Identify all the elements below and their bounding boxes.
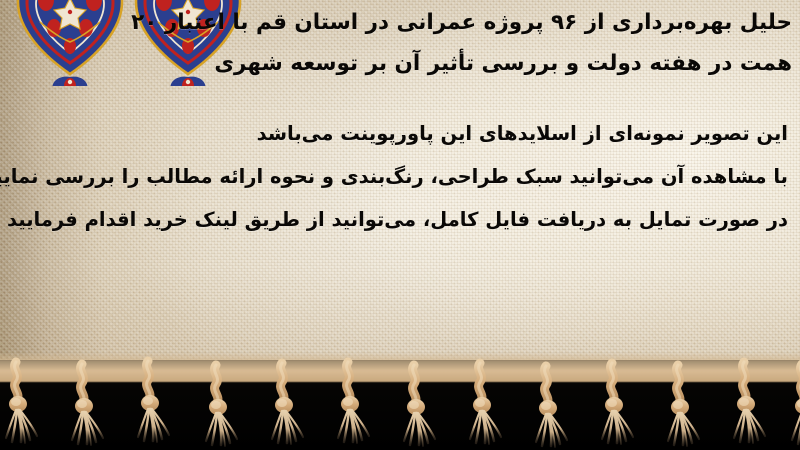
body-line-2: با مشاهده آن می‌توانید سبک طراحی، رنگ‌بن… <box>0 155 788 198</box>
title-line-1: حلیل بهره‌برداری از ۹۶ پروژه عمرانی در ا… <box>0 2 792 43</box>
slide-title: حلیل بهره‌برداری از ۹۶ پروژه عمرانی در ا… <box>0 2 792 84</box>
carpet-fringe <box>0 352 800 450</box>
fringe-knots <box>0 352 800 450</box>
body-line-1: این تصویر نمونه‌ای از اسلایدهای این پاور… <box>0 112 788 155</box>
body-line-3: در صورت تمایل به دریافت فایل کامل، می‌تو… <box>0 198 788 241</box>
title-line-2: همت در هفته دولت و بررسی تأثیر آن بر توس… <box>0 43 792 84</box>
slide-body: این تصویر نمونه‌ای از اسلایدهای این پاور… <box>0 112 788 241</box>
slide-text-layer: حلیل بهره‌برداری از ۹۶ پروژه عمرانی در ا… <box>0 0 800 372</box>
slide-canvas: حلیل بهره‌برداری از ۹۶ پروژه عمرانی در ا… <box>0 0 800 450</box>
